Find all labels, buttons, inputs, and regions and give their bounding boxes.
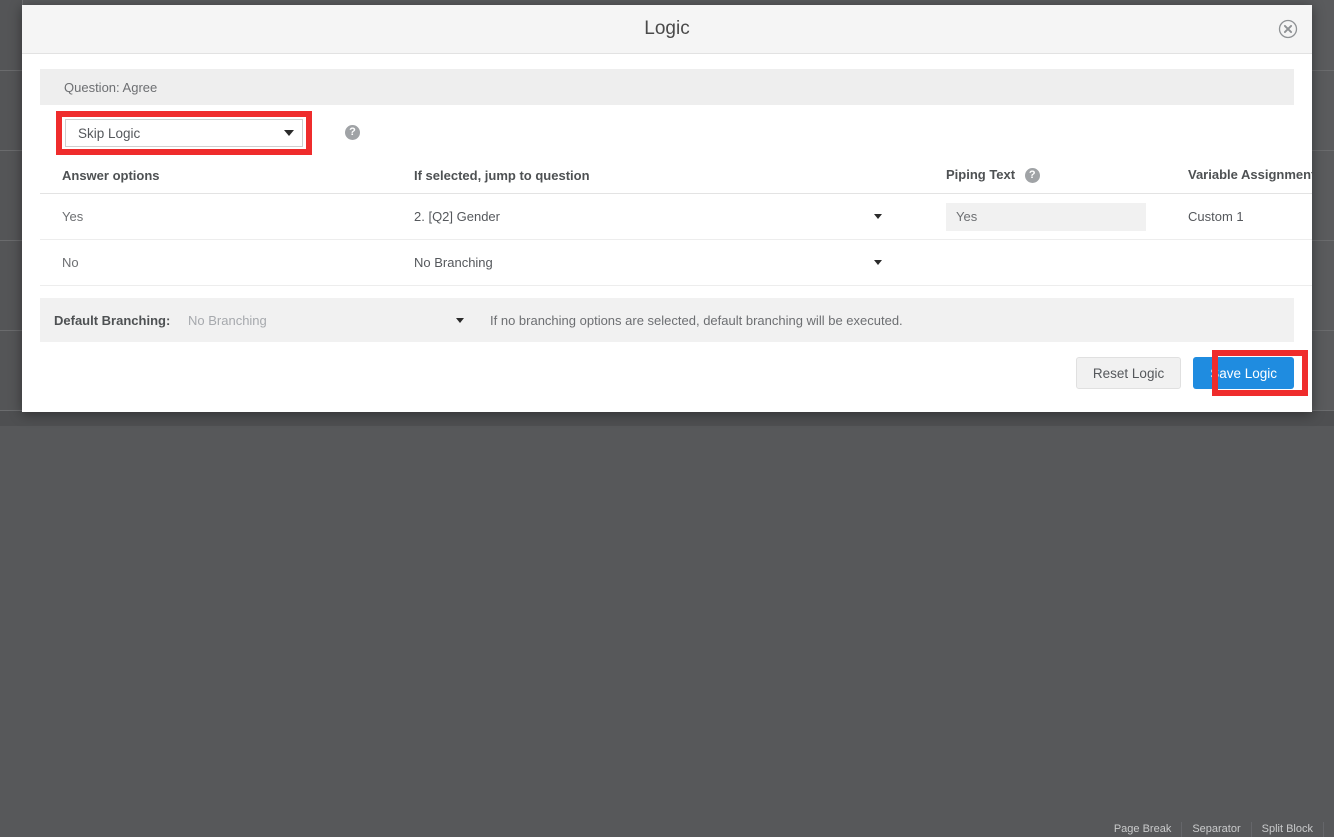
separator-button[interactable]: Separator (1182, 822, 1251, 837)
variable-assignment-select[interactable]: Custom 1 (1188, 209, 1312, 224)
save-logic-button[interactable]: Save Logic (1193, 357, 1294, 389)
logic-type-value: Skip Logic (78, 126, 284, 141)
jump-to-question-value: 2. [Q2] Gender (414, 209, 874, 224)
logic-type-select[interactable]: Skip Logic (65, 119, 303, 147)
column-header-answer-options: Answer options (40, 157, 392, 194)
chevron-down-icon (284, 130, 294, 136)
background-left-rail (0, 0, 23, 425)
column-header-jump-to-question: If selected, jump to question (392, 157, 924, 194)
logic-type-row: Skip Logic ? (40, 109, 1294, 157)
modal-body: Question: Agree Skip Logic ? Answer opti… (22, 69, 1312, 342)
split-block-button[interactable]: Split Block (1252, 822, 1324, 837)
table-row: Yes 2. [Q2] Gender Custom 1 (40, 194, 1312, 240)
piping-text-cell (924, 240, 1166, 286)
piping-text-cell (924, 194, 1166, 240)
default-branching-label: Default Branching: (54, 313, 188, 328)
question-label: Question: Agree (40, 69, 1294, 105)
piping-text-input[interactable] (946, 203, 1146, 231)
background-toolbar-right-group: Page Break Separator Split Block (1104, 822, 1324, 837)
table-row: No No Branching (40, 240, 1312, 286)
answer-option-value: Yes (40, 194, 392, 240)
chevron-down-icon (874, 260, 882, 265)
help-icon[interactable]: ? (1025, 168, 1040, 183)
default-branching-row: Default Branching: No Branching If no br… (40, 298, 1294, 342)
logic-table: Answer options If selected, jump to ques… (40, 157, 1312, 286)
page-break-button[interactable]: Page Break (1104, 822, 1182, 837)
jump-to-question-select[interactable]: 2. [Q2] Gender (414, 209, 924, 224)
default-branching-select[interactable]: No Branching (188, 313, 464, 328)
modal-footer: Reset Logic Save Logic (22, 342, 1312, 404)
default-branching-value: No Branching (188, 313, 456, 328)
table-header-row: Answer options If selected, jump to ques… (40, 157, 1312, 194)
close-icon[interactable] (1278, 19, 1298, 39)
variable-assignment-cell: Custom 1 (1166, 194, 1312, 240)
reset-logic-button[interactable]: Reset Logic (1076, 357, 1181, 389)
column-header-piping-text-label: Piping Text (946, 167, 1015, 182)
column-header-piping-text: Piping Text ? (924, 157, 1166, 194)
column-header-variable-assignment-label: Variable Assignment (1188, 167, 1312, 182)
background-toolbar: Page Break Separator Split Block (0, 410, 1334, 426)
default-branching-hint: If no branching options are selected, de… (464, 313, 903, 328)
answer-option-value: No (40, 240, 392, 286)
variable-assignment-cell (1166, 240, 1312, 286)
modal-header: Logic (22, 5, 1312, 54)
jump-to-question-cell: 2. [Q2] Gender (392, 194, 924, 240)
help-icon[interactable]: ? (345, 125, 360, 140)
jump-to-question-value: No Branching (414, 255, 874, 270)
variable-assignment-value: Custom 1 (1188, 209, 1312, 224)
jump-to-question-select[interactable]: No Branching (414, 255, 924, 270)
chevron-down-icon (456, 318, 464, 323)
column-header-variable-assignment: Variable Assignment ? (1166, 157, 1312, 194)
page-title: Logic (22, 5, 1312, 53)
chevron-down-icon (874, 214, 882, 219)
logic-modal: Logic Question: Agree Skip Logic ? Answe… (22, 5, 1312, 412)
jump-to-question-cell: No Branching (392, 240, 924, 286)
